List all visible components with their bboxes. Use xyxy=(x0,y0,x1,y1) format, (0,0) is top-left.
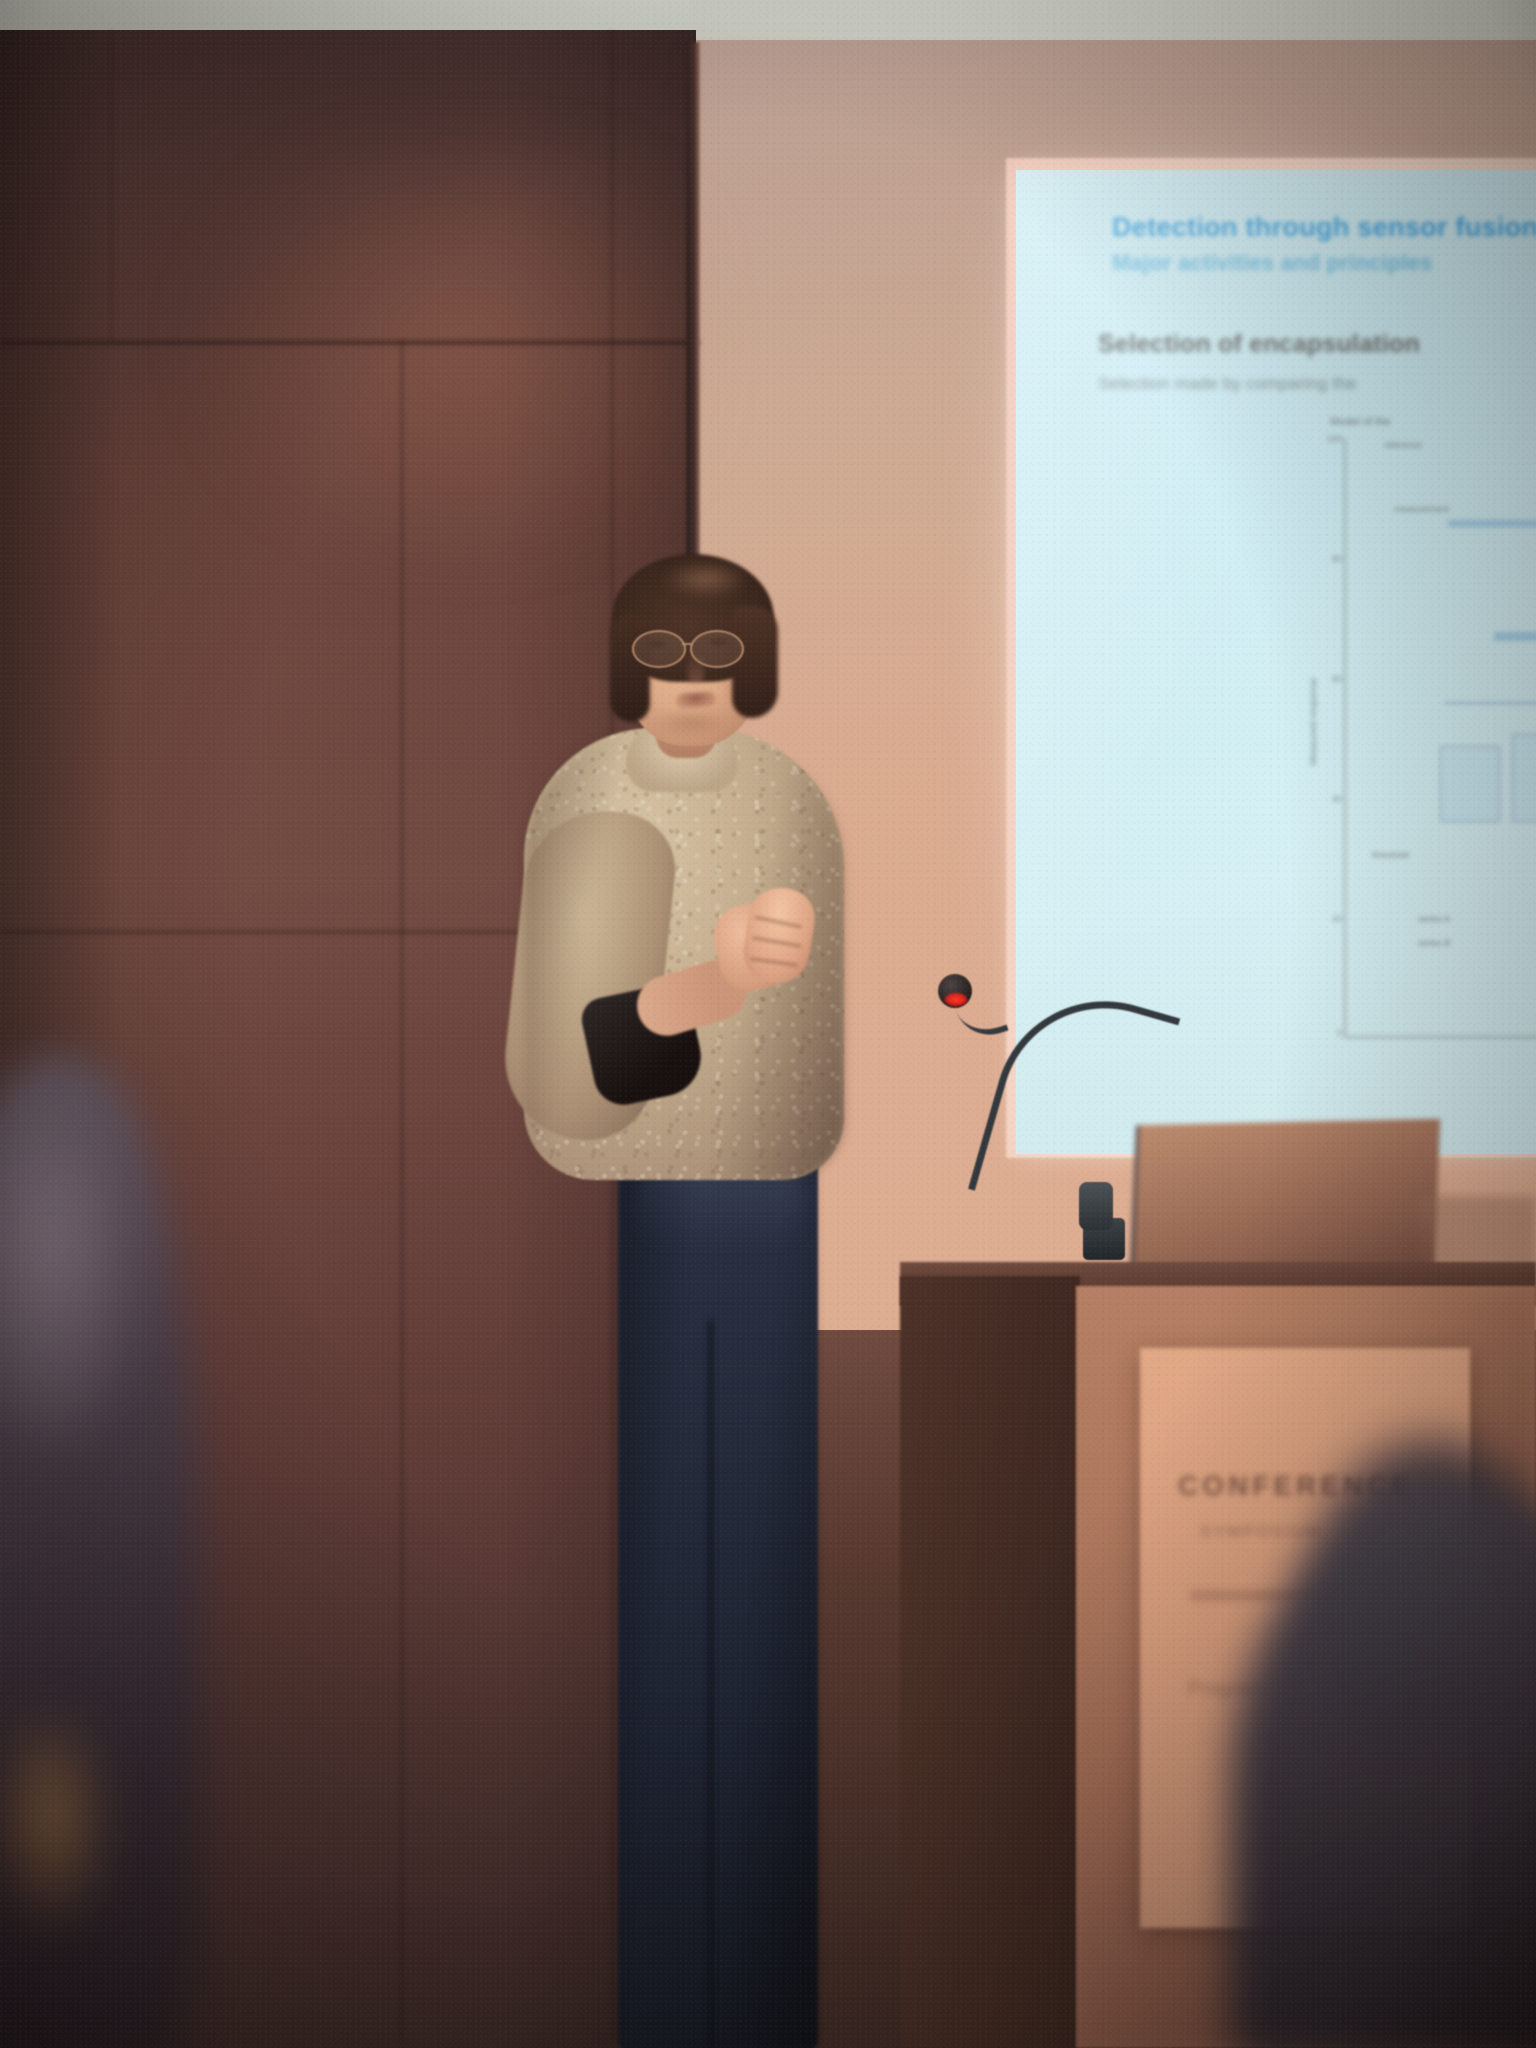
slide-subtitle: Major activities and principles xyxy=(1112,250,1536,276)
mouth xyxy=(675,691,716,710)
chart-title: Model of the xyxy=(1330,416,1391,428)
speaker xyxy=(540,560,960,2048)
slide-title: Detection through sensor fusion xyxy=(1112,212,1536,243)
presentation-photo-scene: Detection through sensor fusion Major ac… xyxy=(0,0,1536,2048)
wall-light-glow xyxy=(180,150,700,570)
foreground-warm-highlight xyxy=(0,1700,110,1940)
chart-y-tick-0: 0 xyxy=(1316,1028,1342,1038)
chart-annotation-threshold: threshold xyxy=(1372,850,1409,860)
nose xyxy=(688,652,704,684)
wall-seam-horizontal-upper xyxy=(0,340,700,345)
slide-chart: Model of the Measured response 100 80 60… xyxy=(1298,416,1536,1076)
chart-box-right xyxy=(1512,734,1536,822)
slide-body-line: Selection made by comparing the xyxy=(1098,374,1536,394)
chart-legend-series-b: series B xyxy=(1418,938,1451,948)
laptop-lid[interactable] xyxy=(1130,1119,1440,1277)
chart-annotation-reference: reference xyxy=(1384,440,1422,450)
hair-highlight xyxy=(664,562,748,596)
chart-y-axis-label: Measured response xyxy=(1309,677,1320,765)
jeans-shading xyxy=(618,1120,818,2048)
chart-annotation-measurement: measurement xyxy=(1394,504,1449,514)
microphone-led-indicator[interactable] xyxy=(945,993,967,1006)
slide-section-heading: Selection of encapsulation xyxy=(1098,330,1536,359)
chart-y-tick-20: 20 xyxy=(1316,914,1342,924)
chart-series-a-mark xyxy=(1448,520,1536,527)
chart-y-tick-40: 40 xyxy=(1316,794,1342,804)
chart-connector-arrow xyxy=(1444,702,1536,704)
chin-shading xyxy=(652,712,730,738)
chart-legend-series-a: series A xyxy=(1418,914,1450,924)
chart-x-axis xyxy=(1344,1036,1536,1038)
wall-seam-vertical-center xyxy=(400,340,404,2040)
chart-y-axis xyxy=(1344,438,1346,1038)
chart-series-b-mark xyxy=(1494,632,1536,641)
chart-y-tick-60: 60 xyxy=(1316,674,1342,684)
wall-seam-vertical-left xyxy=(110,30,113,340)
lectern-side-panel xyxy=(900,1276,1080,2048)
glasses-lens-left xyxy=(632,630,686,668)
chart-y-tick-100: 100 xyxy=(1316,434,1342,444)
glasses-bridge xyxy=(682,643,692,645)
chart-box-left xyxy=(1440,746,1500,822)
chart-y-tick-80: 80 xyxy=(1316,554,1342,564)
